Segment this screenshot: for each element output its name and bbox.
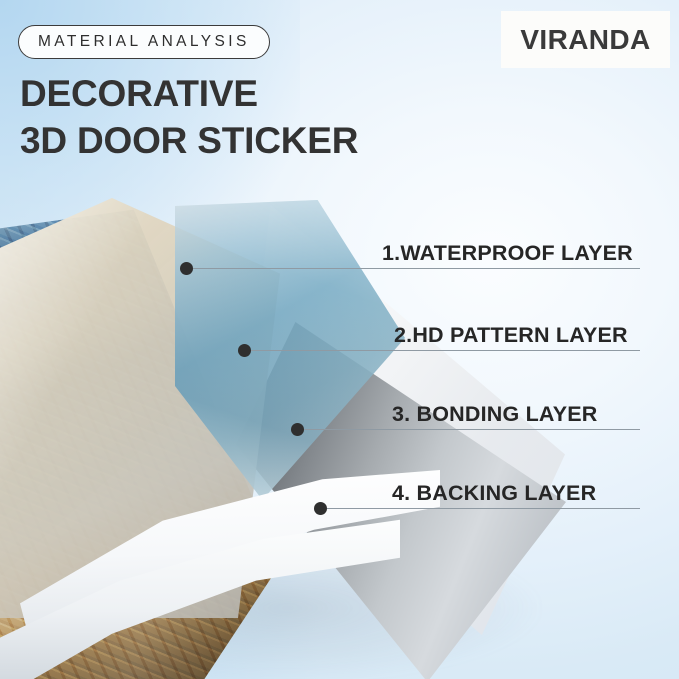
page-title: DECORATIVE 3D DOOR STICKER (20, 70, 358, 164)
callout-2-dot (238, 344, 251, 357)
callout-1-label: 1.WATERPROOF LAYER (382, 241, 633, 266)
page-title-line2: 3D DOOR STICKER (20, 117, 358, 164)
callout-3-label: 3. BONDING LAYER (392, 402, 598, 427)
brand-name: VIRANDA (520, 24, 650, 56)
poster-canvas: MATERIAL ANALYSIS DECORATIVE 3D DOOR STI… (0, 0, 679, 679)
callout-4-line (327, 508, 640, 509)
callout-3-line (304, 429, 640, 430)
callout-2-label: 2.HD PATTERN LAYER (394, 323, 628, 348)
callout-1-dot (180, 262, 193, 275)
callout-2-line (251, 350, 640, 351)
page-title-line1: DECORATIVE (20, 73, 258, 114)
callout-4-dot (314, 502, 327, 515)
callout-1-line (193, 268, 640, 269)
eyebrow-badge: MATERIAL ANALYSIS (18, 25, 270, 59)
callout-3-dot (291, 423, 304, 436)
callout-4-label: 4. BACKING LAYER (392, 481, 596, 506)
brand-logo-box: VIRANDA (501, 11, 670, 68)
